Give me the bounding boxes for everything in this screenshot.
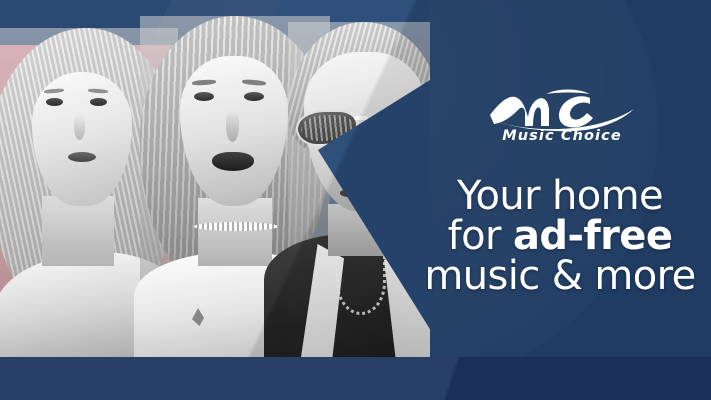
music-choice-promo-banner: Music Choice Your home for ad-free music… — [0, 0, 711, 400]
bottom-letterbox-band — [0, 357, 711, 400]
artwork-panel — [0, 0, 430, 357]
headline-line-3: music & more — [410, 256, 710, 296]
artist-center-tattoo — [192, 308, 204, 326]
headline: Your home for ad-free music & more — [410, 176, 710, 296]
music-choice-logo: Music Choice — [486, 88, 636, 150]
artist-center-neck — [198, 198, 272, 266]
artist-center-choker — [194, 222, 278, 231]
artist-left-neck — [42, 196, 114, 266]
artist-left-mouth — [68, 152, 96, 162]
headline-line-2: for ad-free — [410, 216, 710, 256]
artist-center-brow-right — [242, 79, 266, 86]
artist-center-face — [180, 56, 288, 206]
artist-right-necklace — [336, 250, 386, 315]
artist-left-nose — [74, 114, 85, 140]
artist-left-face — [32, 72, 132, 206]
artist-center-nose — [226, 110, 239, 142]
artist-center-eye-right — [244, 92, 264, 101]
mc-swoosh-logo-icon — [486, 88, 636, 132]
artist-center-brow-left — [192, 79, 216, 86]
artist-left-brow-left — [44, 88, 64, 94]
artist-left-eye-right — [90, 98, 107, 106]
artist-center-eye-left — [194, 92, 214, 101]
headline-line-1: Your home — [410, 176, 710, 216]
artist-right-collar-left — [300, 244, 344, 357]
artist-left-brow-right — [88, 88, 108, 93]
logo-wordmark: Music Choice — [494, 128, 630, 144]
artist-left-eye-left — [46, 98, 63, 106]
artist-center-lips — [212, 152, 254, 171]
